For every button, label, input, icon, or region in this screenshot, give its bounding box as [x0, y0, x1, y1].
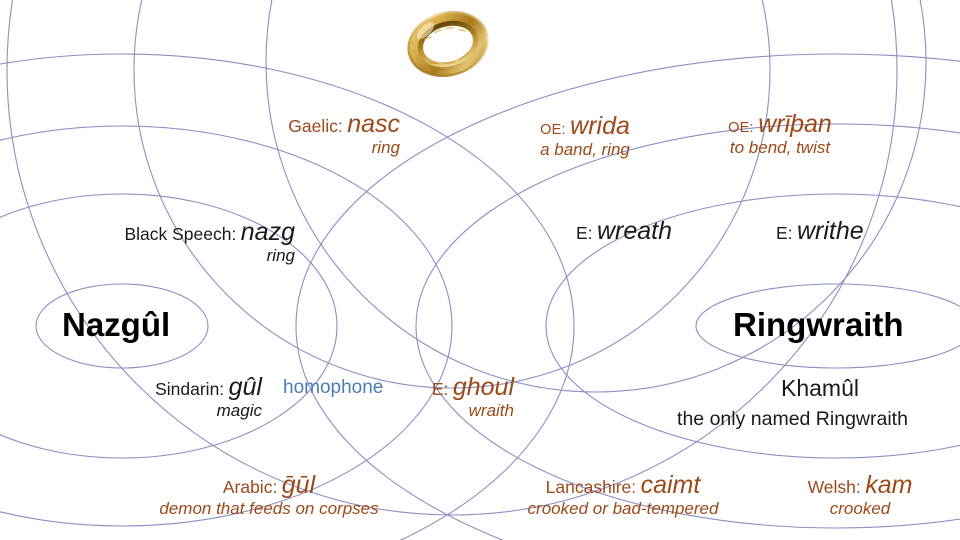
entry-term-line: Black Speech: nazg: [80, 220, 295, 246]
entry-term-line: E: writhe: [776, 219, 864, 245]
entry-term-line: Lancashire: caimt: [488, 473, 758, 499]
entry-language: E:: [576, 223, 593, 243]
entry-term-line: E: wreath: [576, 219, 672, 245]
named-ringwraith-name: Khamûl: [700, 375, 940, 402]
entry-term-line: Welsh: kam: [775, 473, 945, 499]
connector-homophone-label: homophone: [283, 378, 383, 397]
entry-language: Sindarin:: [155, 379, 224, 399]
entry-oe-writhan: OE: wrīþan to bend, twist: [690, 112, 870, 156]
entry-language: Gaelic:: [288, 116, 342, 136]
entry-language: E:: [432, 379, 449, 399]
entry-language: OE:: [728, 120, 754, 136]
entry-term: writhe: [797, 217, 864, 245]
entry-term: wrīþan: [758, 110, 832, 138]
entry-term: kam: [865, 471, 912, 499]
entry-term: ghoul: [453, 373, 514, 401]
entry-term: gûl: [229, 373, 262, 401]
entry-language: Arabic:: [223, 477, 277, 497]
entry-term-line: Gaelic: nasc: [240, 112, 400, 138]
entry-e-wreath: E: wreath: [576, 219, 672, 245]
entry-term: nasc: [347, 110, 400, 138]
entry-welsh-kam: Welsh: kam crooked: [775, 473, 945, 517]
entry-sindarin-gul: Sindarin: gûl magic: [110, 375, 262, 419]
entry-gloss: magic: [110, 402, 262, 419]
entry-language: E:: [776, 223, 793, 243]
entry-language: Black Speech:: [124, 224, 236, 244]
entry-term-line: E: ghoul: [404, 375, 514, 401]
entry-term: wrida: [570, 112, 630, 140]
entry-black-speech-nazg: Black Speech: nazg ring: [80, 220, 295, 264]
entry-e-writhe: E: writhe: [776, 219, 864, 245]
entry-term: caimt: [641, 471, 701, 499]
entry-arabic-ghul: Arabic: ḡūl demon that feeds on corpses: [108, 473, 430, 517]
entry-gloss: ring: [80, 247, 295, 264]
entry-term-line: Sindarin: gûl: [110, 375, 262, 401]
entry-term: wreath: [597, 217, 672, 245]
entry-oe-wrida: OE: wrida a band, ring: [500, 114, 670, 158]
entry-gloss: wraith: [404, 402, 514, 419]
entry-language: Welsh:: [808, 477, 861, 497]
entry-term-line: OE: wrīþan: [690, 112, 870, 138]
named-ringwraith-description: the only named Ringwraith: [640, 408, 945, 431]
entry-gloss: crooked or bad-tempered: [488, 500, 758, 517]
one-ring-icon: [396, 2, 500, 86]
entry-gloss: ring: [240, 139, 400, 156]
entry-term-line: OE: wrida: [500, 114, 670, 140]
entry-gloss: demon that feeds on corpses: [108, 500, 430, 517]
entry-gloss: crooked: [775, 500, 945, 517]
entry-term-line: Arabic: ḡūl: [108, 473, 430, 499]
headline-ringwraith: Ringwraith: [733, 306, 904, 344]
entry-term: ḡūl: [282, 471, 315, 499]
etymology-diagram: Gaelic: nasc ring OE: wrida a band, ring…: [0, 0, 960, 540]
headline-nazgul: Nazgûl: [62, 306, 170, 344]
entry-lancashire-caimt: Lancashire: caimt crooked or bad-tempere…: [488, 473, 758, 517]
entry-language: Lancashire:: [546, 477, 636, 497]
entry-gloss: a band, ring: [500, 141, 670, 158]
entry-e-ghoul: E: ghoul wraith: [404, 375, 514, 419]
entry-gloss: to bend, twist: [690, 139, 870, 156]
entry-gaelic-nasc: Gaelic: nasc ring: [240, 112, 400, 156]
entry-language: OE:: [540, 122, 566, 138]
entry-term: nazg: [241, 218, 295, 246]
